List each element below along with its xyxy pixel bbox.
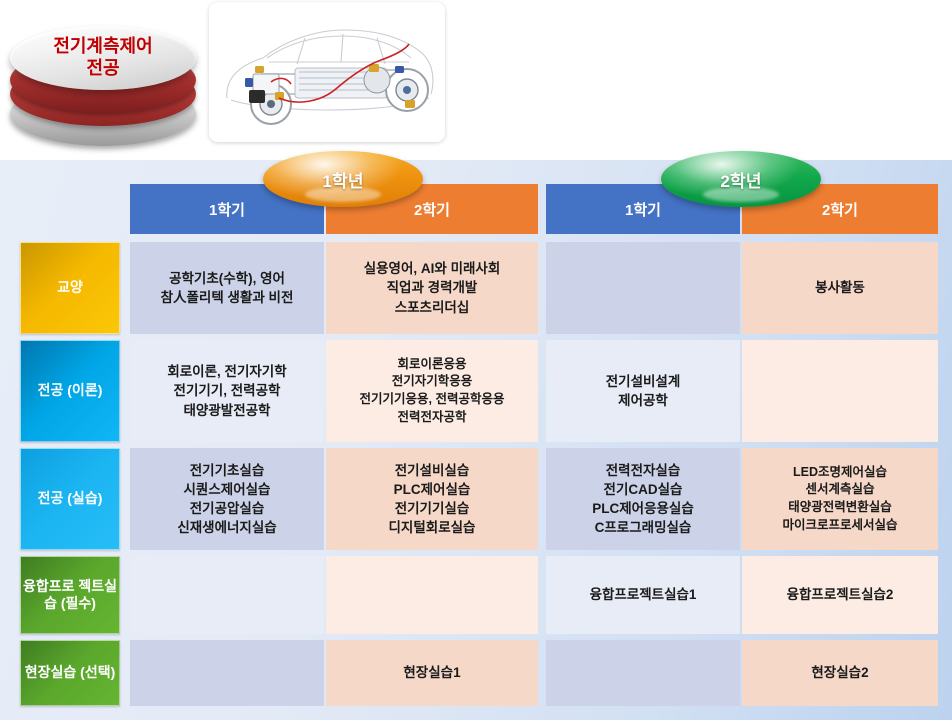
- year-badge-2-label: 2학년: [720, 167, 761, 192]
- cell-gyoyang-y1s1: 공학기초(수학), 영어 참人폴리텍 생활과 비전: [130, 242, 324, 334]
- year-badge-1-label: 1학년: [322, 167, 363, 192]
- cell-theory-y1s1: 회로이론, 전기자기학 전기기기, 전력공학 태양광발전공학: [130, 340, 324, 442]
- cell-field-y2s2: 현장실습2: [742, 640, 938, 706]
- cell-gyoyang-y2s2: 봉사활동: [742, 242, 938, 334]
- curriculum-table-frame: 1학기 2학기 1학기 2학기 교양 전공 (이론) 전공 (실습) 융합프로 …: [0, 160, 952, 720]
- cell-field-y2s1: [546, 640, 740, 706]
- major-disc-badge: 전기계측제어 전공: [4, 12, 204, 160]
- column-header-year2-sem2-label: 2학기: [822, 199, 858, 220]
- major-title-line1: 전기계측제어: [53, 36, 152, 58]
- electric-vehicle-image-card: [209, 2, 445, 142]
- column-header-year1-sem2-label: 2학기: [414, 199, 450, 220]
- cell-practice-y2s2: LED조명제어실습 센서계측실습 태양광전력변환실습 마이크로프로세서실습: [742, 448, 938, 550]
- major-title-line2: 전공: [86, 58, 119, 80]
- cell-gyoyang-y2s1: [546, 242, 740, 334]
- cell-practice-y1s2: 전기설비실습 PLC제어실습 전기기기실습 디지털회로실습: [326, 448, 538, 550]
- cell-theory-y2s2: [742, 340, 938, 442]
- cell-fusion-y2s1: 융합프로젝트실습1: [546, 556, 740, 634]
- cell-practice-y2s1: 전력전자실습 전기CAD실습 PLC제어응용실습 C프로그래밍실습: [546, 448, 740, 550]
- category-label-field-training: 현장실습 (선택): [20, 640, 120, 706]
- category-label-fusion-project: 융합프로 젝트실습 (필수): [20, 556, 120, 634]
- cell-practice-y1s1: 전기기초실습 시퀀스제어실습 전기공압실습 신재생에너지실습: [130, 448, 324, 550]
- cell-fusion-y2s2: 융합프로젝트실습2: [742, 556, 938, 634]
- cell-field-y1s1: [130, 640, 324, 706]
- category-label-major-theory: 전공 (이론): [20, 340, 120, 442]
- cell-field-y1s2: 현장실습1: [326, 640, 538, 706]
- cell-fusion-y1s2: [326, 556, 538, 634]
- curriculum-grid: 1학기 2학기 1학기 2학기 교양 전공 (이론) 전공 (실습) 융합프로 …: [14, 172, 938, 712]
- major-title: 전기계측제어 전공: [10, 30, 196, 86]
- column-header-year1-sem1-label: 1학기: [209, 199, 245, 220]
- cell-theory-y2s1: 전기설비설계 제어공학: [546, 340, 740, 442]
- category-label-major-practice: 전공 (실습): [20, 448, 120, 550]
- year-badge-2: 2학년: [661, 151, 821, 207]
- cell-gyoyang-y1s2: 실용영어, AI와 미래사회 직업과 경력개발 스포츠리더십: [326, 242, 538, 334]
- category-label-gyoyang: 교양: [20, 242, 120, 334]
- header-band: 전기계측제어 전공: [0, 0, 952, 160]
- column-header-year2-sem1-label: 1학기: [625, 199, 661, 220]
- electric-vehicle-chassis-icon: [209, 2, 445, 142]
- cell-fusion-y1s1: [130, 556, 324, 634]
- year-badge-1: 1학년: [263, 151, 423, 207]
- cell-theory-y1s2: 회로이론응용 전기자기학응용 전기기기응용, 전력공학응용 전력전자공학: [326, 340, 538, 442]
